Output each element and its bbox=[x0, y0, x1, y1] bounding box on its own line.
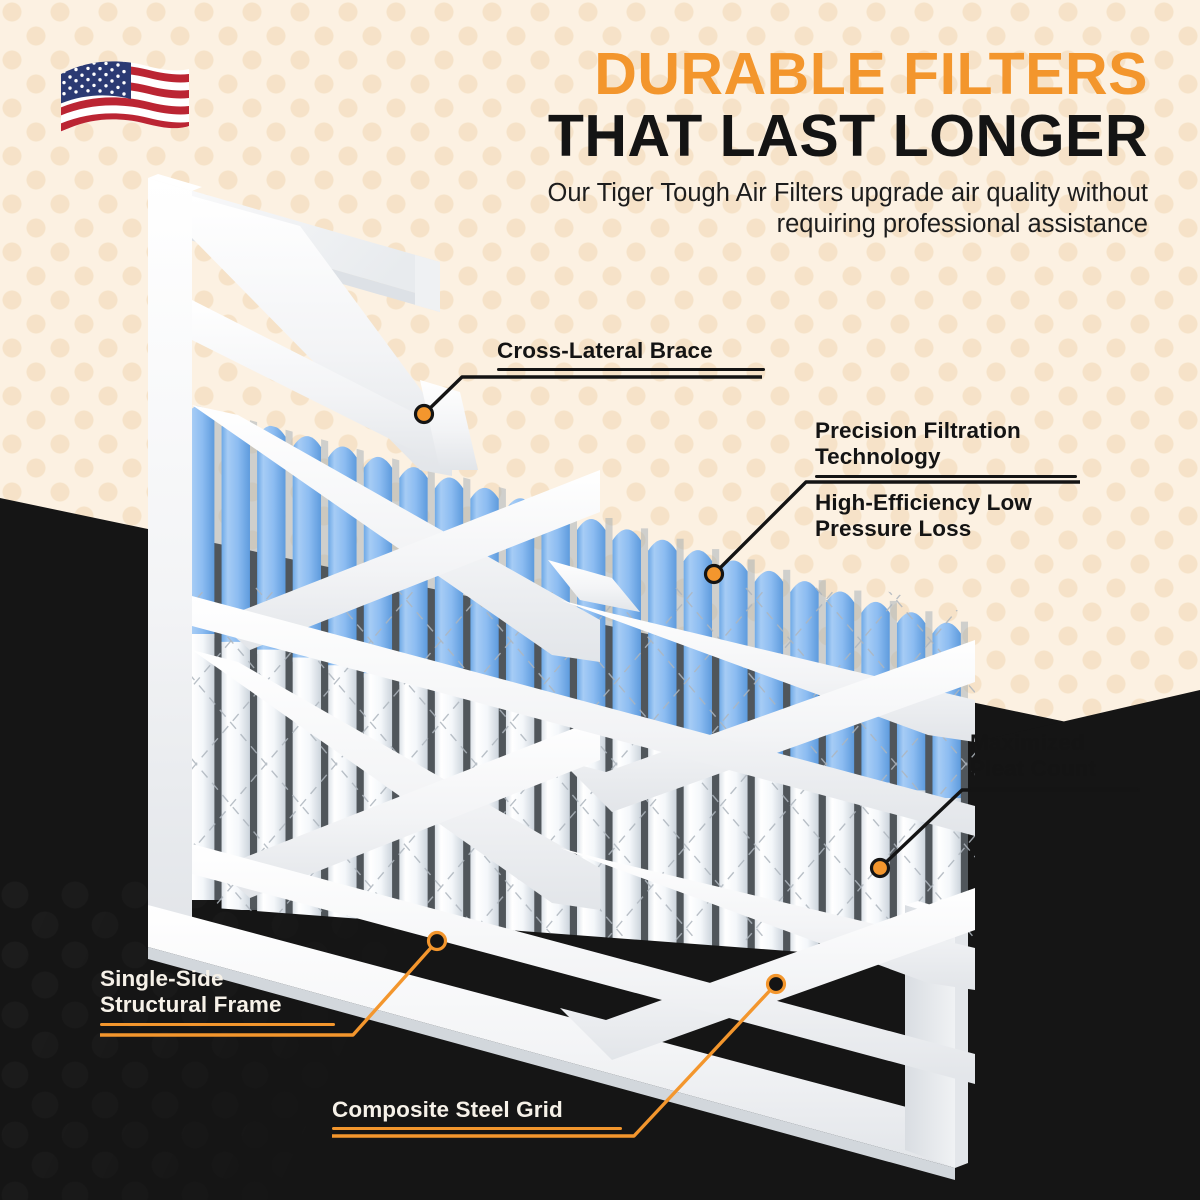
header-block: DURABLE FILTERS THAT LAST LONGER Our Tig… bbox=[448, 44, 1148, 240]
callout-label: High-Efficiency Low Pressure Loss bbox=[815, 490, 1077, 543]
callout-underline bbox=[497, 368, 765, 371]
callout-underline bbox=[100, 1023, 335, 1026]
pleat-blue bbox=[613, 529, 641, 739]
callout-underline bbox=[970, 787, 1138, 790]
pleat-gap bbox=[854, 591, 861, 1080]
callout-single-side-structural-frame: Single-Side Structural Frame bbox=[100, 966, 335, 1026]
callout-underline bbox=[815, 475, 1077, 478]
callout-label: Precision Filtration Technology bbox=[815, 418, 1077, 471]
callout-label: Composite Steel Grid bbox=[332, 1097, 622, 1123]
pleat-gap bbox=[250, 414, 257, 910]
callout-high-efficiency-low-pressure-loss: High-Efficiency Low Pressure Loss bbox=[815, 490, 1077, 543]
callout-cross-lateral-brace: Cross-Lateral Brace bbox=[497, 338, 765, 371]
callout-label: Cross-Lateral Brace bbox=[497, 338, 765, 364]
headline-secondary: THAT LAST LONGER bbox=[448, 106, 1148, 167]
callout-precision-filtration-technology: Precision Filtration Technology bbox=[815, 418, 1077, 478]
infographic-canvas: DURABLE FILTERS THAT LAST LONGER Our Tig… bbox=[0, 0, 1200, 1200]
callout-composite-steel-grid: Composite Steel Grid bbox=[332, 1097, 622, 1130]
headline-primary: DURABLE FILTERS bbox=[448, 44, 1148, 104]
callout-underline bbox=[332, 1127, 622, 1130]
pleat-gap bbox=[214, 404, 221, 900]
pleat-gap bbox=[819, 580, 826, 1070]
pleat-blue bbox=[648, 540, 676, 748]
header-subtitle: Our Tiger Tough Air Filters upgrade air … bbox=[448, 178, 1148, 240]
pleat-gap bbox=[712, 549, 719, 1040]
pleat-gap bbox=[499, 487, 506, 980]
callout-label: Maximized Pleat Count bbox=[970, 730, 1138, 783]
callout-maximized-pleat-count: Maximized Pleat Count bbox=[970, 730, 1138, 790]
callout-label: Single-Side Structural Frame bbox=[100, 966, 335, 1019]
